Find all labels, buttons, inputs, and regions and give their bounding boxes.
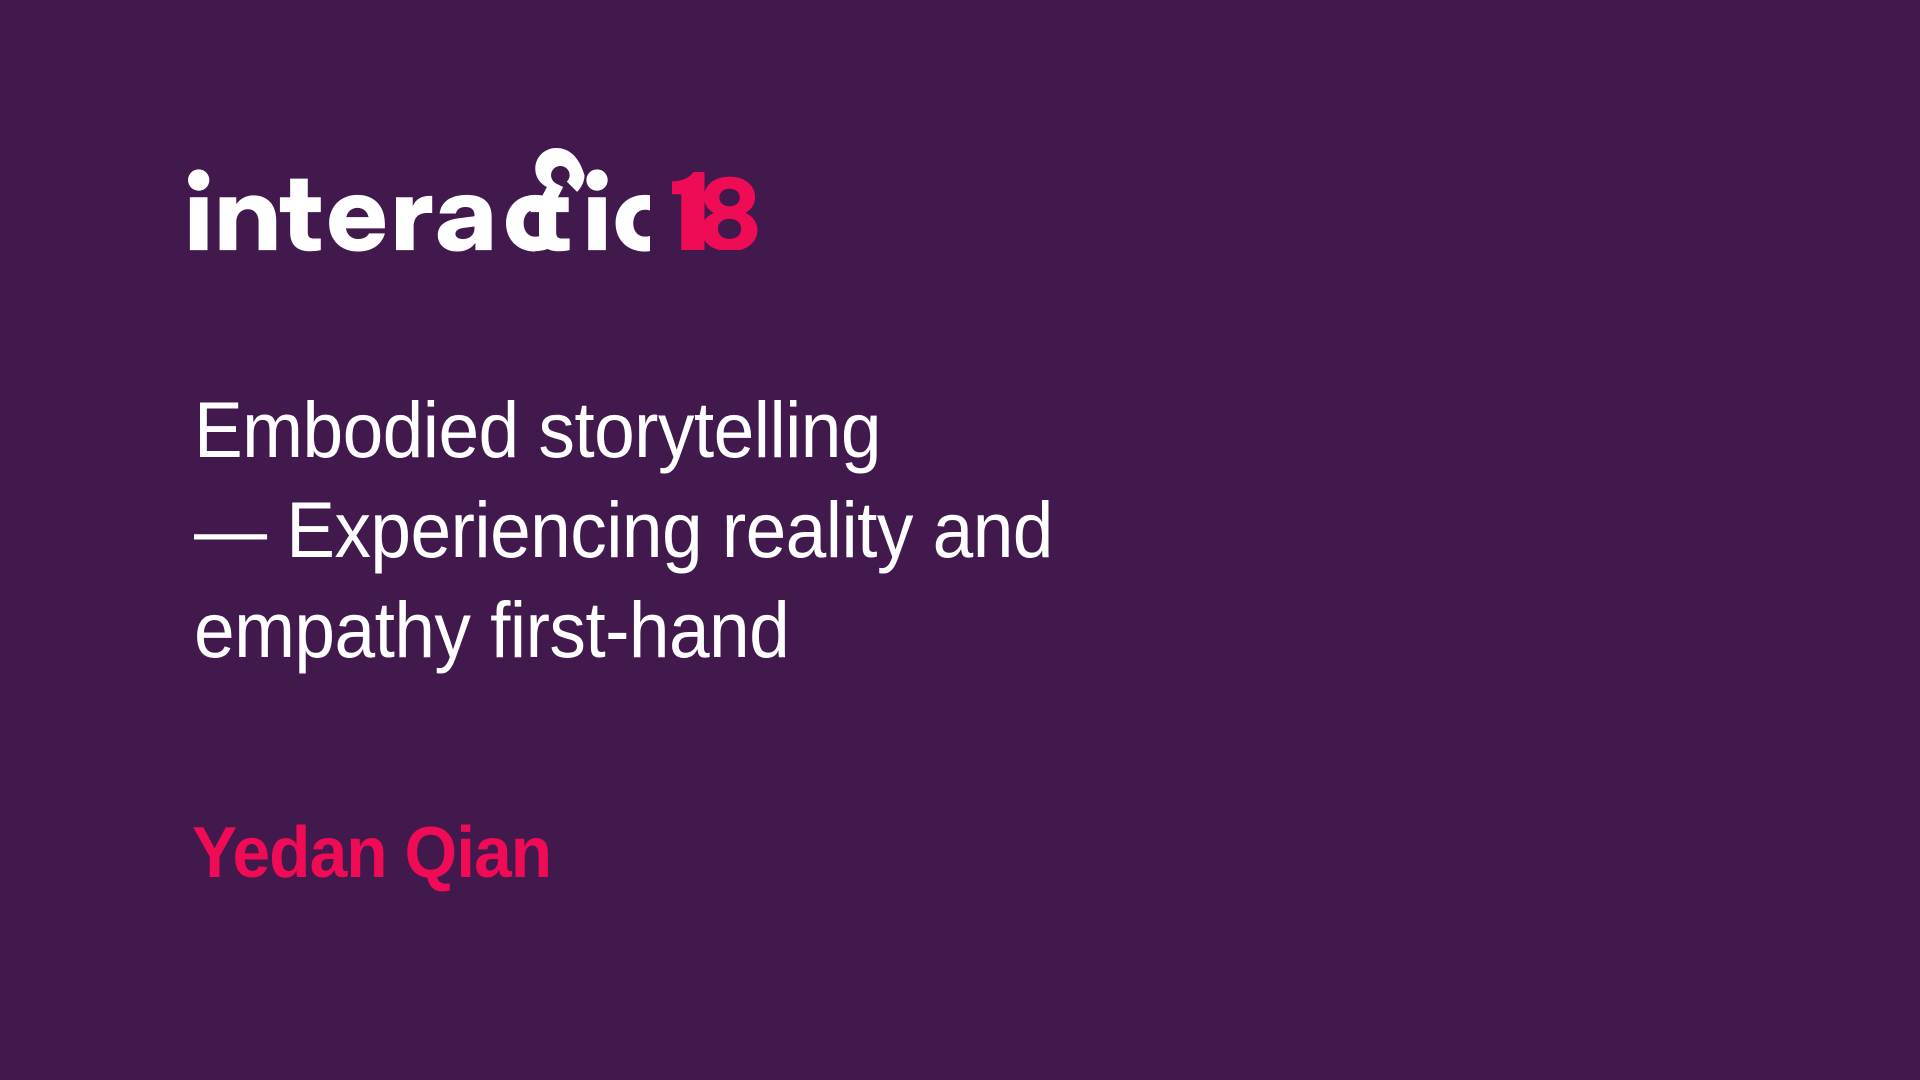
- speaker-name: Yedan Qian: [192, 812, 551, 894]
- speaker-block: Yedan Qian: [192, 812, 574, 894]
- talk-title-line-1: Embodied storytelling: [194, 380, 1212, 480]
- talk-title: Embodied storytelling — Experiencing rea…: [194, 380, 1294, 680]
- talk-title-line-3: empathy first-hand: [194, 580, 1212, 680]
- interaction-wordmark-icon: [188, 148, 650, 252]
- title-slide: Embodied storytelling — Experiencing rea…: [0, 0, 1920, 1080]
- talk-title-line-2: — Experiencing reality and: [194, 480, 1212, 580]
- edition-number-18-icon: [672, 172, 757, 250]
- interaction-18-logo: [188, 132, 758, 252]
